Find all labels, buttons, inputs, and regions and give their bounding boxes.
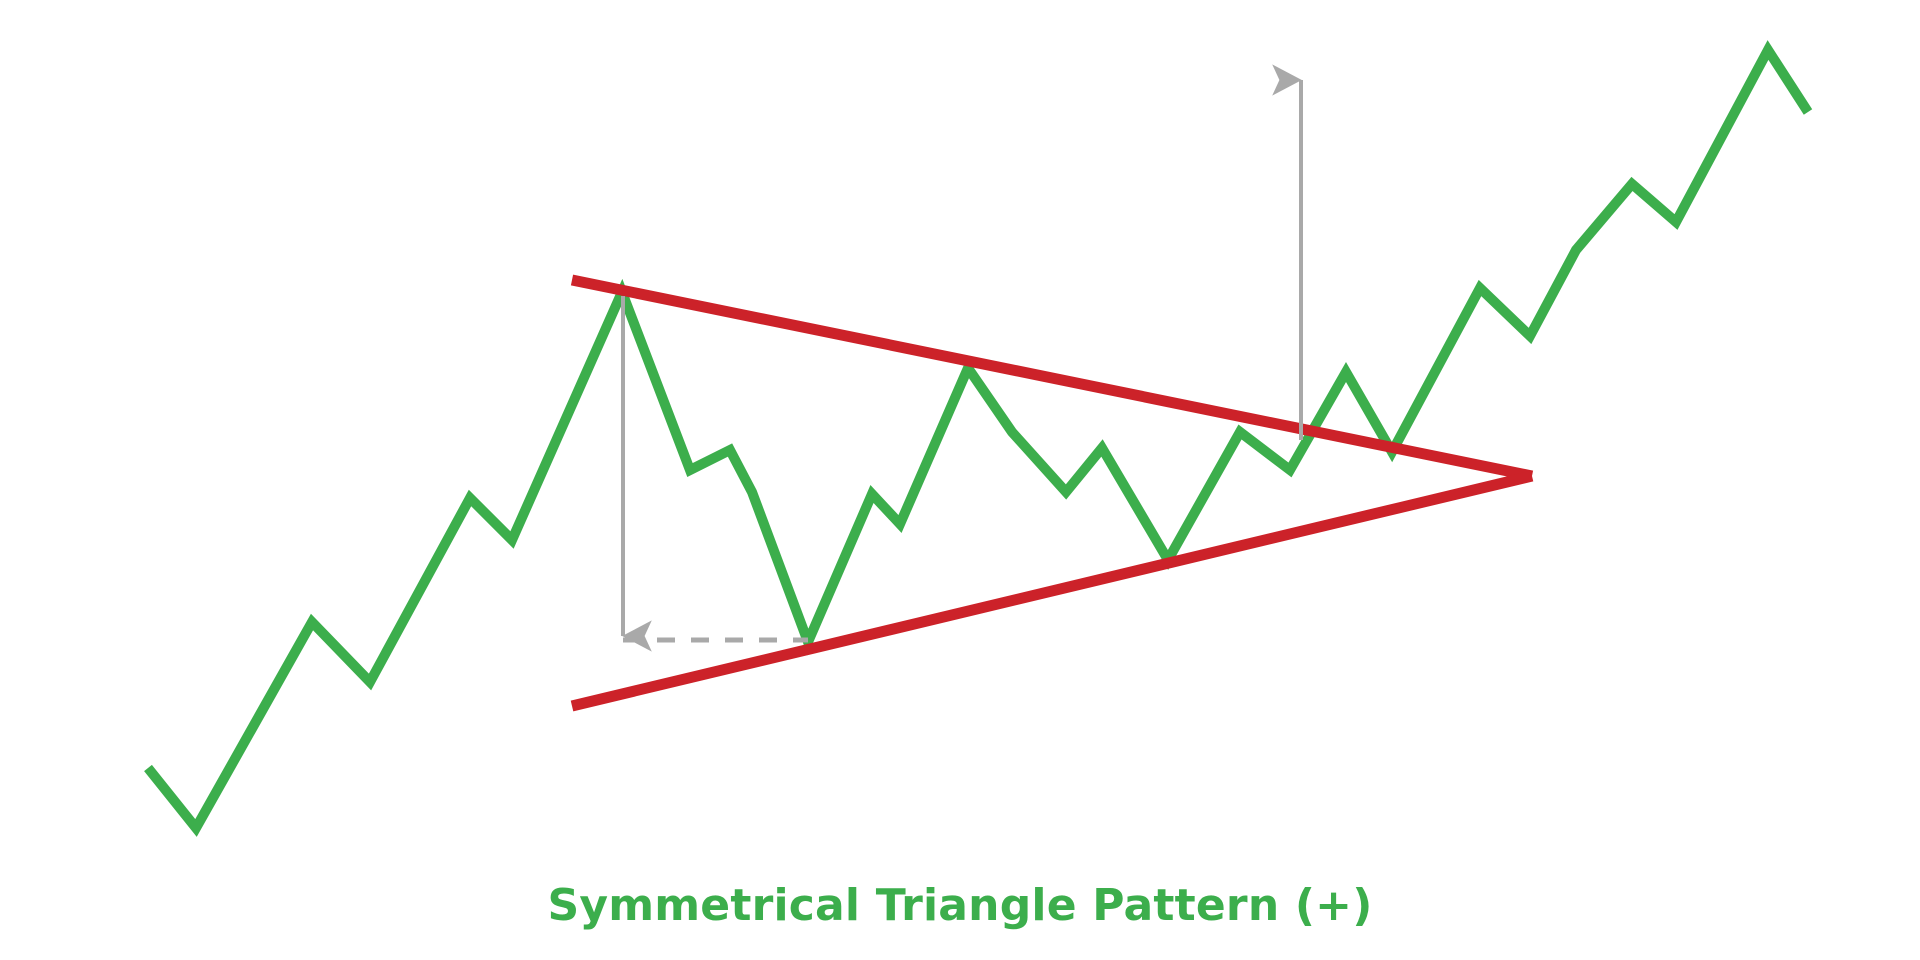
lower-support-trendline: [572, 476, 1532, 706]
symmetrical-triangle-pattern-figure: [0, 0, 1920, 960]
upper-resistance-trendline: [572, 280, 1532, 476]
chart-canvas: Symmetrical Triangle Pattern (+): [0, 0, 1920, 960]
chart-title: Symmetrical Triangle Pattern (+): [0, 880, 1920, 931]
price-zigzag-line: [148, 50, 1808, 828]
